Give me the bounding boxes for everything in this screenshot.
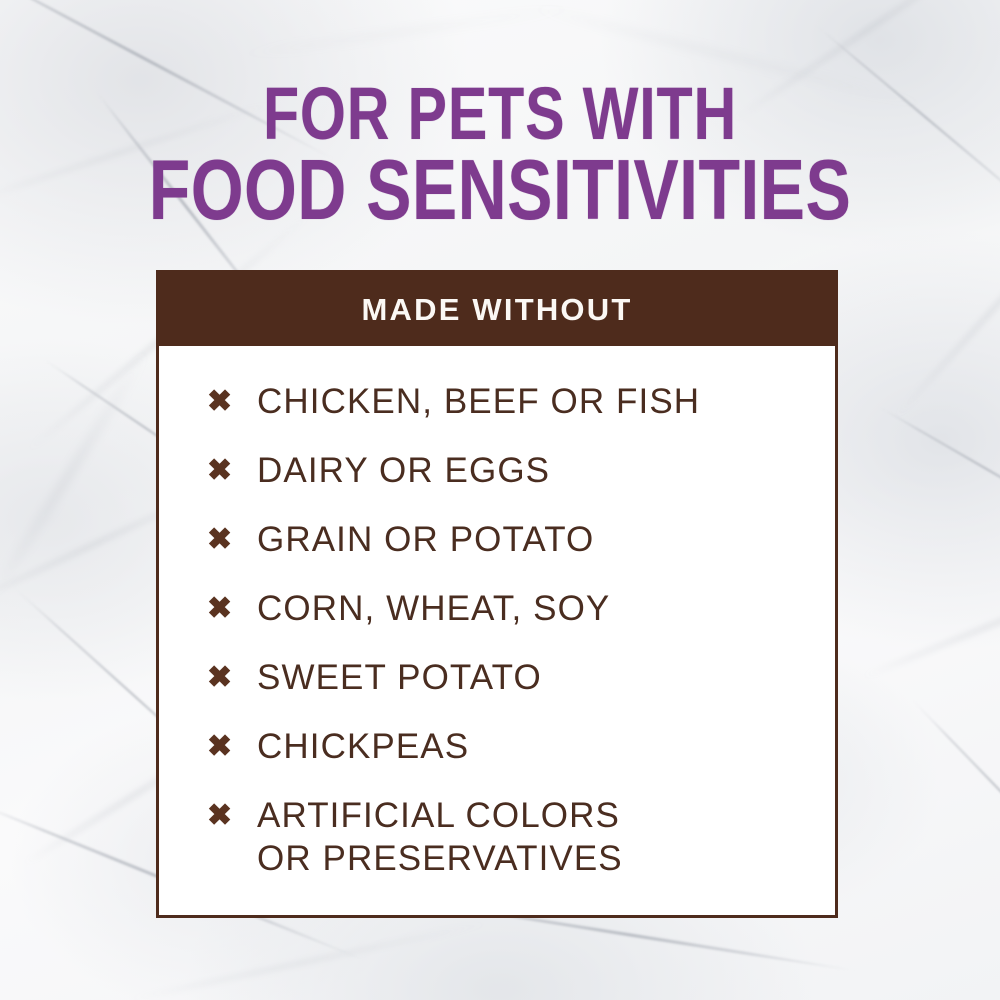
cross-mark-icon: ✖ [207, 518, 257, 561]
made-without-card: MADE WITHOUT ✖ CHICKEN, BEEF OR FISH ✖ D… [156, 270, 838, 918]
marketing-graphic: FOR PETS WITH FOOD SENSITIVITIES MADE WI… [0, 0, 1000, 1000]
list-item: ✖ CHICKEN, BEEF OR FISH [207, 380, 835, 423]
list-item: ✖ DAIRY OR EGGS [207, 449, 835, 492]
cross-mark-icon: ✖ [207, 725, 257, 768]
list-item-label: GRAIN OR POTATO [257, 518, 594, 561]
cross-mark-icon: ✖ [207, 656, 257, 699]
page-title-line-2: FOOD SENSITIVITIES [100, 150, 900, 232]
card-header-title: MADE WITHOUT [362, 292, 633, 328]
list-item-label: CHICKPEAS [257, 725, 469, 768]
list-item: ✖ CORN, WHEAT, SOY [207, 587, 835, 630]
list-item: ✖ CHICKPEAS [207, 725, 835, 768]
card-header: MADE WITHOUT [159, 273, 835, 346]
list-item-label: DAIRY OR EGGS [257, 449, 550, 492]
excluded-ingredients-list: ✖ CHICKEN, BEEF OR FISH ✖ DAIRY OR EGGS … [207, 380, 835, 880]
list-item-label: CHICKEN, BEEF OR FISH [257, 380, 700, 423]
list-item: ✖ GRAIN OR POTATO [207, 518, 835, 561]
cross-mark-icon: ✖ [207, 380, 257, 423]
list-item-label: ARTIFICIAL COLORS OR PRESERVATIVES [257, 794, 623, 880]
page-title: FOR PETS WITH FOOD SENSITIVITIES [100, 78, 900, 232]
page-title-line-1: FOR PETS WITH [100, 78, 900, 150]
list-item: ✖ ARTIFICIAL COLORS OR PRESERVATIVES [207, 794, 835, 880]
list-item: ✖ SWEET POTATO [207, 656, 835, 699]
card-body: ✖ CHICKEN, BEEF OR FISH ✖ DAIRY OR EGGS … [159, 346, 835, 880]
cross-mark-icon: ✖ [207, 794, 257, 837]
list-item-label: CORN, WHEAT, SOY [257, 587, 610, 630]
cross-mark-icon: ✖ [207, 587, 257, 630]
cross-mark-icon: ✖ [207, 449, 257, 492]
list-item-label: SWEET POTATO [257, 656, 542, 699]
